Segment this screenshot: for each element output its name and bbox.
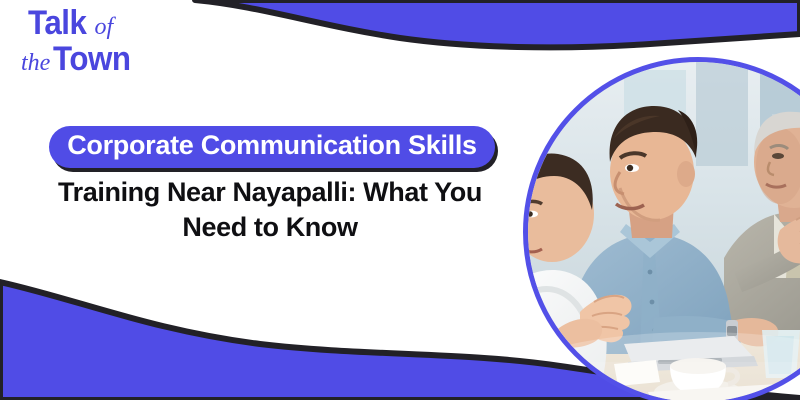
meeting-photo-illustration xyxy=(528,62,800,400)
logo-word-town: Town xyxy=(53,42,130,76)
top-wave-shape xyxy=(195,0,800,47)
logo-line-1: Talkof xyxy=(18,6,138,40)
headline-block: Corporate Communication Skills Training … xyxy=(0,126,540,246)
blog-banner: Talkof theTown Corporate Communication S… xyxy=(0,0,800,400)
logo-line-2: theTown xyxy=(18,42,138,76)
logo-word-the: the xyxy=(18,50,53,76)
hero-photo xyxy=(528,62,800,400)
logo-word-of: of xyxy=(92,14,117,40)
brand-logo[interactable]: Talkof theTown xyxy=(18,6,138,76)
headline-line-2: Training Near Nayapalli: What You xyxy=(0,175,540,211)
headline-badge-wrapper: Corporate Communication Skills xyxy=(49,126,495,168)
headline-badge: Corporate Communication Skills xyxy=(49,126,495,168)
headline-text: Training Near Nayapalli: What You Need t… xyxy=(0,175,540,246)
logo-word-talk: Talk xyxy=(28,6,86,40)
headline-line-3: Need to Know xyxy=(0,210,540,246)
